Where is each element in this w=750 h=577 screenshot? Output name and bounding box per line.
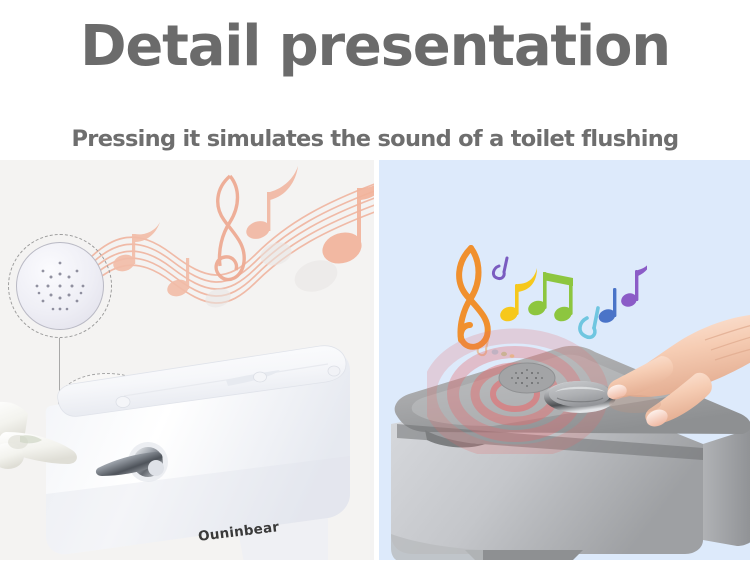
speaker-grille-closeup <box>16 242 104 330</box>
heading-block: Detail presentation Pressing it simulate… <box>0 0 750 160</box>
pointing-hand <box>575 310 750 460</box>
image-panel-row: Ouninbear <box>0 158 750 560</box>
gloved-hand <box>0 388 114 498</box>
speaker-grille-magnifier <box>8 234 116 346</box>
product-detail-banner: Detail presentation Pressing it simulate… <box>0 0 750 577</box>
panel-right-gray-tank <box>379 158 750 560</box>
page-title: Detail presentation <box>0 18 750 77</box>
footer-strip <box>0 560 750 577</box>
music-staff-illustration <box>80 158 374 323</box>
panel-left-white-tank: Ouninbear <box>0 158 374 560</box>
page-subtitle: Pressing it simulates the sound of a toi… <box>0 126 750 152</box>
